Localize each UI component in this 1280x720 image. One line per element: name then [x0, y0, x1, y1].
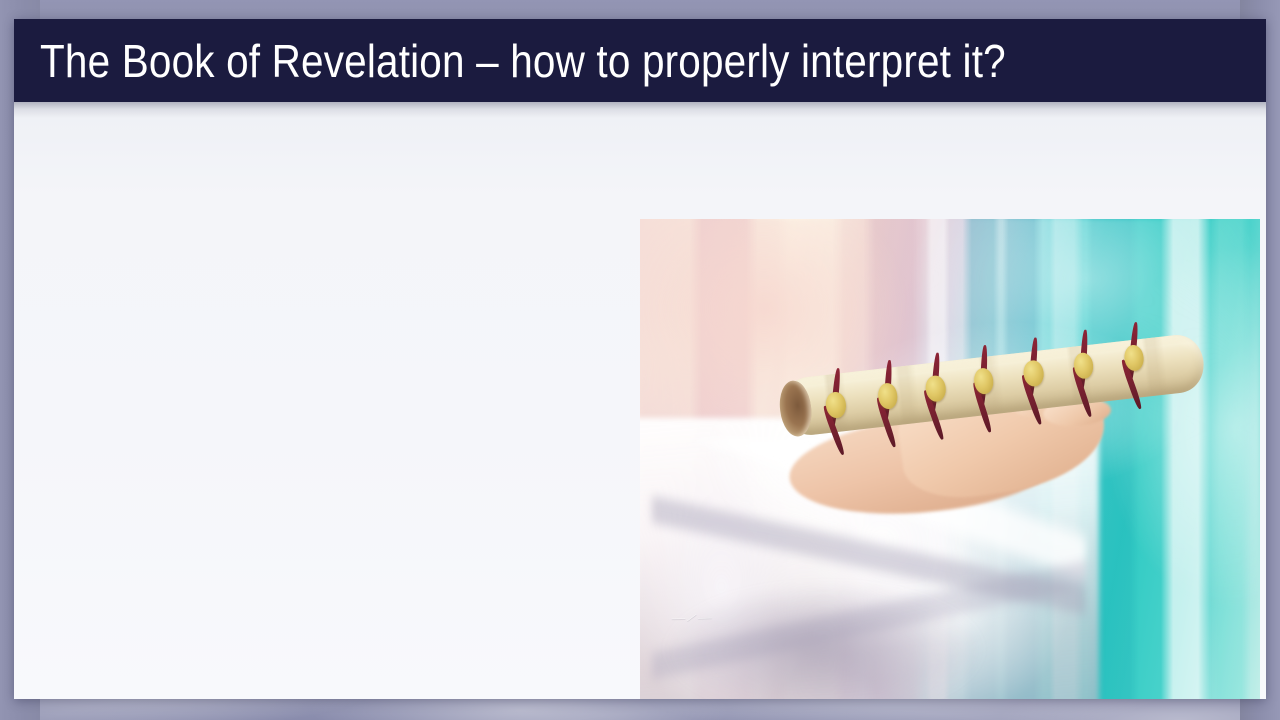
slide-title: The Book of Revelation – how to properly…: [40, 34, 1006, 88]
slide: The Book of Revelation – how to properly…: [14, 19, 1266, 699]
content-placeholder[interactable]: [44, 142, 624, 622]
illustration-scroll-with-seven-seals: — ⁄ —: [640, 219, 1260, 699]
slide-title-bar: The Book of Revelation – how to properly…: [14, 19, 1266, 102]
presentation-frame: The Book of Revelation – how to properly…: [0, 0, 1280, 720]
body-top-shadow: [14, 102, 1266, 118]
artist-signature: — ⁄ —: [671, 613, 713, 624]
art-robe-shadow: [640, 587, 1049, 699]
slide-body: — ⁄ —: [14, 102, 1266, 699]
